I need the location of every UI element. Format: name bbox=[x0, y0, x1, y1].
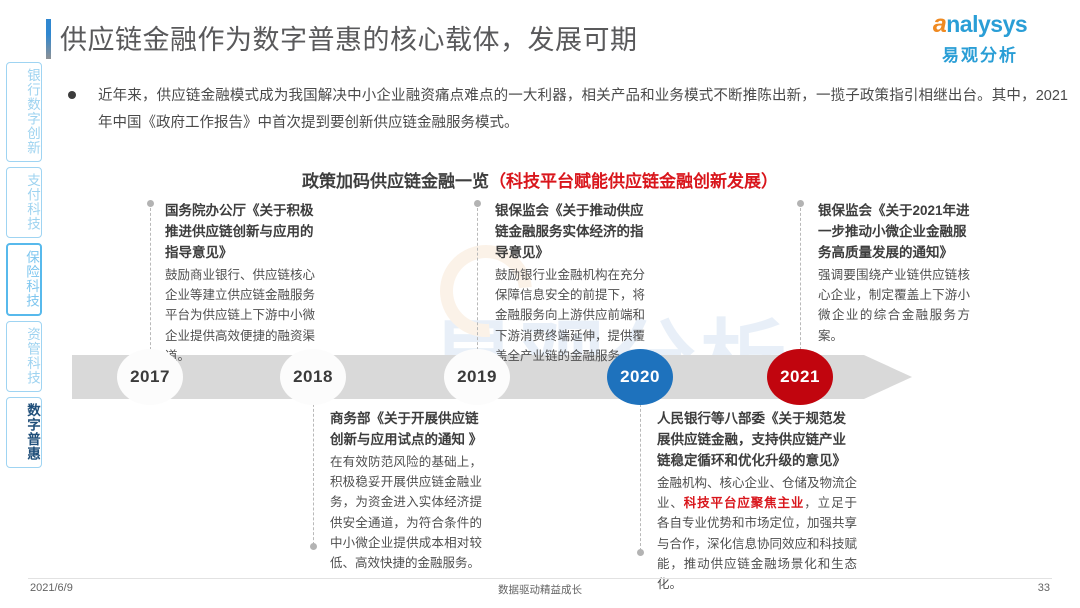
timeline-item-2017-body: 鼓励商业银行、供应链核心企业等建立供应链金融服务平台为供应链上下游中小微企业提供… bbox=[165, 265, 315, 366]
timeline-item-2021-body: 强调要围绕产业链供应链核心企业，制定覆盖上下游小微企业的综合金融服务方案。 bbox=[818, 265, 970, 346]
timeline-item-2020: 人民银行等八部委《关于规范发展供应链金融，支持供应链产业链稳定循环和优化升级的意… bbox=[657, 409, 857, 594]
timeline-node-2017[interactable]: 2017 bbox=[117, 349, 183, 405]
timeline-item-2019-title: 银保监会《关于推动供应链金融服务实体经济的指导意见》 bbox=[495, 201, 645, 264]
page-title: 供应链金融作为数字普惠的核心载体，发展可期 bbox=[60, 18, 638, 57]
intro-bullet-text: 近年来，供应链金融模式成为我国解决中小企业融资痛点难点的一大利器，相关产品和业务… bbox=[98, 83, 1068, 137]
sidebar-tab-banking-label: 银行数字创新 bbox=[24, 68, 41, 155]
timeline-item-2018-title: 商务部《关于开展供应链创新与应用试点的通知 》 bbox=[330, 409, 482, 451]
timeline-item-2019-body: 鼓励银行业金融机构在充分保障信息安全的前提下，将金融服务向上游供应前端和下游消费… bbox=[495, 265, 645, 366]
sidebar-tab-asset-management-label: 资管科技 bbox=[24, 327, 41, 385]
timeline-item-2018: 商务部《关于开展供应链创新与应用试点的通知 》 在有效防范风险的基础上，积极稳妥… bbox=[330, 409, 482, 573]
sidebar-tab-insurance-label: 保险科技 bbox=[23, 250, 40, 308]
timeline-item-2020-body: 金融机构、核心企业、仓储及物流企业、科技平台应聚焦主业，立足于各自专业优势和市场… bbox=[657, 473, 857, 595]
logo-chinese: 易观分析 bbox=[910, 41, 1050, 66]
sidebar-tab-payment-label: 支付科技 bbox=[24, 173, 41, 231]
connector-2020 bbox=[640, 399, 641, 551]
logo-english: analysys bbox=[910, 12, 1050, 38]
timeline-item-2017-title: 国务院办公厅《关于积极推进供应链创新与应用的指导意见》 bbox=[165, 201, 315, 264]
connector-2021 bbox=[800, 203, 801, 355]
slide-root: 易观分析 供应链金融作为数字普惠的核心载体，发展可期 analysys 易观分析… bbox=[0, 0, 1080, 608]
sidebar-tab-digital-inclusive[interactable]: 数字普惠 bbox=[6, 397, 42, 468]
connector-dot-2018 bbox=[310, 543, 317, 550]
footer: 2021/6/9 数据驱动精益成长 33 bbox=[0, 582, 1080, 598]
timeline-item-2020-highlight: 科技平台应聚焦主业 bbox=[684, 496, 805, 510]
timeline-node-2020[interactable]: 2020 bbox=[607, 349, 673, 405]
footer-page-number: 33 bbox=[1038, 582, 1050, 594]
brand-logo: analysys 易观分析 bbox=[910, 12, 1050, 66]
logo-english-text: nalysys bbox=[946, 11, 1027, 37]
chart-title-main: 政策加码供应链金融一览 bbox=[302, 172, 489, 191]
title-accent-bar bbox=[46, 19, 51, 59]
timeline-node-2021-label: 2021 bbox=[780, 367, 820, 387]
timeline-node-2018[interactable]: 2018 bbox=[280, 349, 346, 405]
connector-dot-2020 bbox=[637, 549, 644, 556]
footer-divider bbox=[28, 578, 1052, 579]
timeline-node-2017-label: 2017 bbox=[130, 367, 170, 387]
connector-2019 bbox=[477, 203, 478, 355]
timeline-item-2018-body: 在有效防范风险的基础上，积极稳妥开展供应链金融业务，为资金进入实体经济提供安全通… bbox=[330, 452, 482, 574]
connector-dot-2017 bbox=[147, 200, 154, 207]
footer-slogan: 数据驱动精益成长 bbox=[0, 582, 1080, 597]
connector-dot-2019 bbox=[474, 200, 481, 207]
timeline-node-2019-label: 2019 bbox=[457, 367, 497, 387]
timeline-node-2018-label: 2018 bbox=[293, 367, 333, 387]
timeline-item-2021-title: 银保监会《关于2021年进一步推动小微企业金融服务高质量发展的通知》 bbox=[818, 201, 970, 264]
connector-dot-2021 bbox=[797, 200, 804, 207]
timeline-node-2019[interactable]: 2019 bbox=[444, 349, 510, 405]
timeline-item-2017: 国务院办公厅《关于积极推进供应链创新与应用的指导意见》 鼓励商业银行、供应链核心… bbox=[165, 201, 315, 366]
sidebar-tab-asset-management[interactable]: 资管科技 bbox=[6, 321, 42, 392]
sidebar-tab-payment[interactable]: 支付科技 bbox=[6, 167, 42, 238]
bullet-dot-icon bbox=[68, 91, 76, 99]
sidebar-tab-insurance[interactable]: 保险科技 bbox=[6, 243, 42, 316]
logo-a-mark-icon: a bbox=[933, 10, 946, 38]
chart-title-paren: （科技平台赋能供应链金融创新发展） bbox=[489, 172, 778, 191]
sidebar-tab-banking[interactable]: 银行数字创新 bbox=[6, 62, 42, 162]
timeline-node-2020-label: 2020 bbox=[620, 367, 660, 387]
timeline-item-2020-body-post: ，立足于各自专业优势和市场定位，加强共享与合作，深化信息协同效应和科技赋能，推动… bbox=[657, 496, 857, 591]
sidebar-tab-digital-inclusive-label: 数字普惠 bbox=[24, 403, 41, 461]
connector-2017 bbox=[150, 203, 151, 355]
intro-bullet: 近年来，供应链金融模式成为我国解决中小企业融资痛点难点的一大利器，相关产品和业务… bbox=[68, 83, 1068, 137]
timeline-item-2021: 银保监会《关于2021年进一步推动小微企业金融服务高质量发展的通知》 强调要围绕… bbox=[818, 201, 970, 346]
sidebar-tabs: 银行数字创新 支付科技 保险科技 资管科技 数字普惠 bbox=[6, 62, 42, 473]
timeline-item-2020-title: 人民银行等八部委《关于规范发展供应链金融，支持供应链产业链稳定循环和优化升级的意… bbox=[657, 409, 857, 472]
timeline-item-2019: 银保监会《关于推动供应链金融服务实体经济的指导意见》 鼓励银行业金融机构在充分保… bbox=[495, 201, 645, 366]
chart-title: 政策加码供应链金融一览（科技平台赋能供应链金融创新发展） bbox=[0, 167, 1080, 192]
timeline-node-2021[interactable]: 2021 bbox=[767, 349, 833, 405]
connector-2018 bbox=[313, 399, 314, 545]
